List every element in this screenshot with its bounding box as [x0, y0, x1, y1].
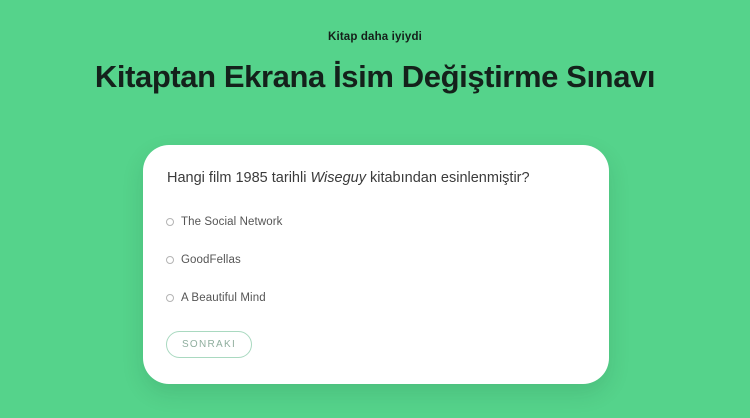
quiz-card: Hangi film 1985 tarihli Wiseguy kitabınd…: [143, 145, 609, 384]
question-text: Hangi film 1985 tarihli Wiseguy kitabınd…: [167, 169, 585, 189]
answer-option-1[interactable]: The Social Network: [166, 214, 585, 229]
answer-option-label: The Social Network: [181, 216, 283, 228]
question-text-before: Hangi film 1985 tarihli: [167, 170, 310, 186]
question-text-after: kitabından esinlenmiştir?: [366, 170, 530, 186]
radio-unchecked-icon[interactable]: [166, 218, 174, 226]
radio-unchecked-icon[interactable]: [166, 256, 174, 264]
radio-unchecked-icon[interactable]: [166, 294, 174, 302]
page-eyebrow: Kitap daha iyiydi: [0, 31, 750, 43]
answer-option-label: GoodFellas: [181, 254, 241, 266]
quiz-page: Kitap daha iyiydi Kitaptan Ekrana İsim D…: [0, 0, 750, 418]
answer-options-list: The Social Network GoodFellas A Beautifu…: [166, 214, 585, 328]
next-button[interactable]: SONRAKI: [166, 331, 252, 358]
answer-option-label: A Beautiful Mind: [181, 292, 266, 304]
answer-option-2[interactable]: GoodFellas: [166, 252, 585, 267]
question-book-title: Wiseguy: [310, 170, 365, 186]
answer-option-3[interactable]: A Beautiful Mind: [166, 290, 585, 305]
page-title: Kitaptan Ekrana İsim Değiştirme Sınavı: [75, 58, 675, 96]
